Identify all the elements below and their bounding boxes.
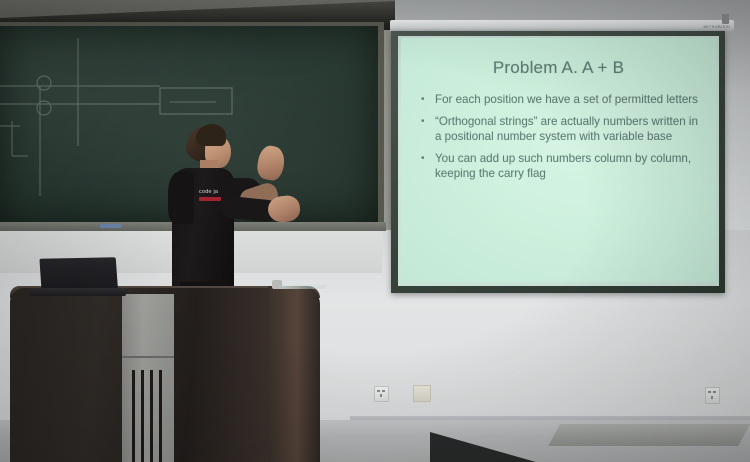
photo-scene: MITSUBISHI Problem A. A + B • For each p… <box>0 0 750 462</box>
bullet-dot-icon: • <box>421 92 435 107</box>
lectern-vent-slit <box>132 370 135 462</box>
slide-bullet-list: • For each position we have a set of per… <box>421 92 701 188</box>
lectern-vent-slit <box>150 370 153 462</box>
bullet-text: For each position we have a set of permi… <box>435 92 698 107</box>
speaker-shoulder <box>168 172 194 224</box>
power-outlet-left <box>374 386 389 402</box>
presentation-slide: Problem A. A + B • For each position we … <box>401 38 716 282</box>
speaker-hair-front <box>196 124 226 146</box>
lectern-right-panel <box>268 286 320 462</box>
slide-title: Problem A. A + B <box>401 58 716 78</box>
screen-mount-bracket <box>722 14 729 24</box>
tshirt-logo: code ja <box>199 189 229 203</box>
tshirt-logo-text: code ja <box>199 189 229 196</box>
bullet-dot-icon: • <box>421 151 435 181</box>
blank-wall-plate <box>413 385 431 402</box>
list-item: • You can add up such numbers column by … <box>421 151 701 181</box>
lectern-control-panel[interactable] <box>122 294 174 462</box>
casing-brand-label: MITSUBISHI <box>700 23 734 29</box>
lectern-vent-slit <box>141 370 144 462</box>
chalk-piece <box>100 224 122 228</box>
list-item: • “Orthogonal strings” are actually numb… <box>421 114 701 144</box>
list-item: • For each position we have a set of per… <box>421 92 701 107</box>
bullet-dot-icon: • <box>421 114 435 144</box>
bullet-text: You can add up such numbers column by co… <box>435 151 701 181</box>
lectern-panel-seam <box>122 356 174 358</box>
floor-strip <box>548 424 750 446</box>
power-outlet-right <box>705 387 720 404</box>
laptop-base[interactable] <box>30 288 126 296</box>
lectern-vent-slit <box>159 370 162 462</box>
lectern-glass-edge <box>278 285 326 289</box>
lectern-knob <box>272 280 282 289</box>
bullet-text: “Orthogonal strings” are actually number… <box>435 114 701 144</box>
tshirt-logo-bar <box>199 197 221 201</box>
